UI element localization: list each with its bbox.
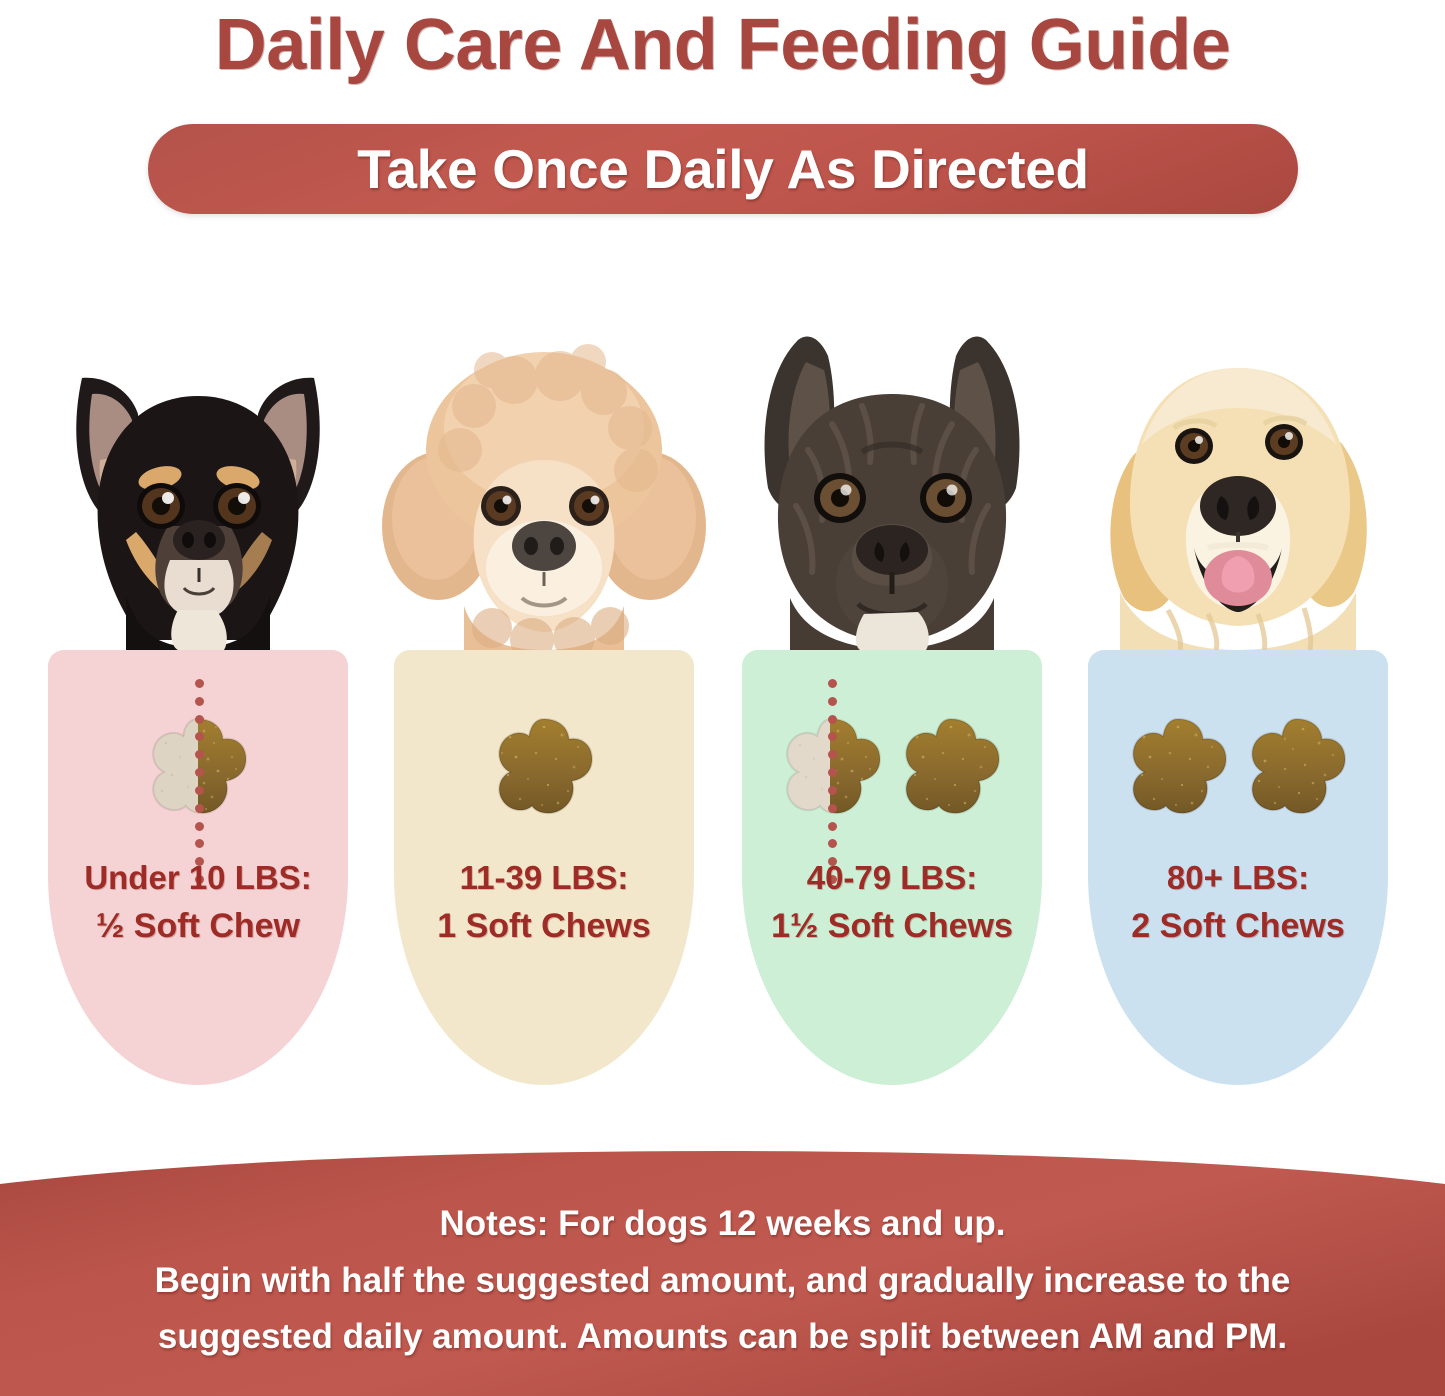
- notes-text-block: Notes: For dogs 12 weeks and up. Begin w…: [0, 1196, 1445, 1366]
- dose-amount-label: 2 Soft Chews: [1088, 902, 1388, 950]
- dose-amount-label: ½ Soft Chew: [48, 902, 348, 950]
- half-divider-dotted-line: [194, 679, 206, 884]
- feeding-guide-page: Daily Care And Feeding Guide Take Once D…: [0, 0, 1445, 1396]
- chew-illustration-group: [742, 692, 1042, 842]
- directions-banner: Take Once Daily As Directed: [148, 124, 1298, 214]
- page-title: Daily Care And Feeding Guide: [0, 4, 1445, 86]
- full-soft-chew-icon: [492, 713, 597, 821]
- notes-lead-text: For dogs 12 weeks and up.: [548, 1204, 1005, 1243]
- notes-label: Notes:: [440, 1204, 549, 1243]
- weight-range-label: 80+ LBS:: [1088, 855, 1388, 902]
- dosage-card-11-39-lbs: 11-39 LBS: 1 Soft Chews: [394, 650, 694, 1085]
- chew-illustration-group: [48, 692, 348, 842]
- directions-banner-text: Take Once Daily As Directed: [357, 137, 1089, 201]
- dose-amount-label: 1 Soft Chews: [394, 902, 694, 950]
- dosage-text-block: 40-79 LBS: 1½ Soft Chews: [742, 855, 1042, 950]
- half-divider-dotted-line: [826, 679, 838, 884]
- half-soft-chew-icon: [146, 713, 251, 821]
- chew-illustration-group: [1088, 692, 1388, 842]
- dosage-card-40-79-lbs: 40-79 LBS: 1½ Soft Chews: [742, 650, 1042, 1085]
- weight-range-label: 11-39 LBS:: [394, 855, 694, 902]
- notes-line-2: Begin with half the suggested amount, an…: [55, 1253, 1390, 1310]
- dog-photo-golden-retriever: [1058, 310, 1418, 650]
- dose-amount-label: 1½ Soft Chews: [742, 902, 1042, 950]
- chew-illustration-group: [394, 692, 694, 842]
- weight-range-label: Under 10 LBS:: [48, 855, 348, 902]
- half-soft-chew-icon: [780, 713, 885, 821]
- dog-photo-poodle: [364, 310, 724, 650]
- full-soft-chew-icon: [1245, 713, 1350, 821]
- dosage-text-block: Under 10 LBS: ½ Soft Chew: [48, 855, 348, 950]
- weight-range-label: 40-79 LBS:: [742, 855, 1042, 902]
- full-soft-chew-icon: [1126, 713, 1231, 821]
- notes-footer: Notes: For dogs 12 weeks and up. Begin w…: [0, 1146, 1445, 1396]
- dosage-card-under-10-lbs: Under 10 LBS: ½ Soft Chew: [48, 650, 348, 1085]
- notes-line-3: suggested daily amount. Amounts can be s…: [55, 1309, 1390, 1366]
- dog-photo-french-bulldog: [712, 310, 1072, 650]
- dosage-card-80-plus-lbs: 80+ LBS: 2 Soft Chews: [1088, 650, 1388, 1085]
- dog-photo-chihuahua: [18, 310, 378, 650]
- dosage-card-row: Under 10 LBS: ½ Soft Chew: [0, 300, 1445, 1100]
- dosage-text-block: 80+ LBS: 2 Soft Chews: [1088, 855, 1388, 950]
- full-soft-chew-icon: [899, 713, 1004, 821]
- dosage-text-block: 11-39 LBS: 1 Soft Chews: [394, 855, 694, 950]
